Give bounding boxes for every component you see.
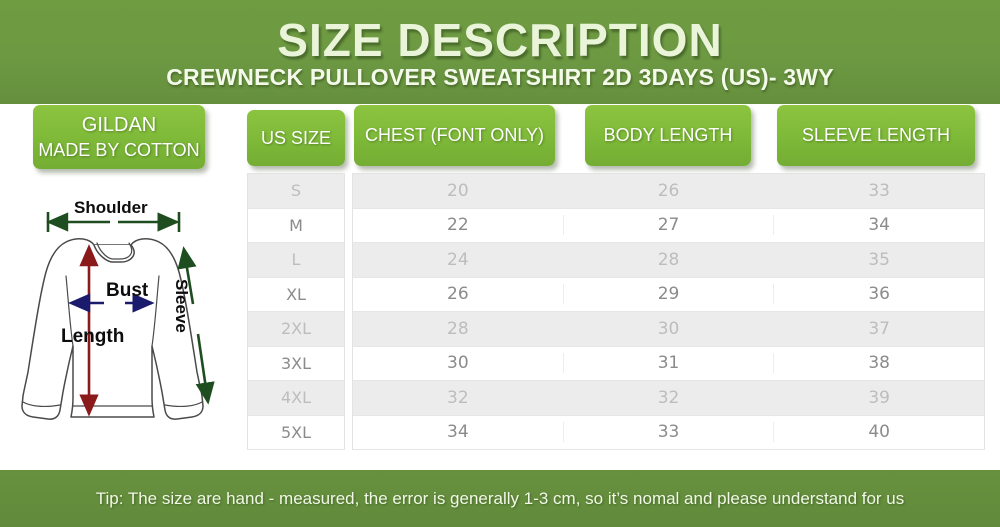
cell-body-length: 29 (563, 284, 774, 304)
size-column: SMLXL2XL3XL4XL5XL (247, 173, 345, 450)
cell-us-size: XL (248, 285, 344, 304)
table-row: 323239 (353, 381, 984, 416)
measurements-columns: 2026332227342428352629362830373031383232… (352, 173, 985, 450)
cell-chest: 26 (353, 284, 563, 304)
cell-sleeve-length: 39 (773, 388, 984, 408)
cell-sleeve-length: 33 (773, 181, 984, 201)
table-row: 222734 (353, 209, 984, 244)
size-table: SMLXL2XL3XL4XL5XL 2026332227342428352629… (0, 168, 1000, 450)
table-row: 343340 (353, 416, 984, 451)
table-row: 242835 (353, 243, 984, 278)
cell-sleeve-length: 36 (773, 284, 984, 304)
cell-chest: 30 (353, 353, 563, 373)
cell-us-size: 4XL (248, 388, 344, 407)
cell-body-length: 28 (563, 250, 774, 270)
cell-chest: 22 (353, 215, 563, 235)
table-row: 283037 (353, 312, 984, 347)
column-header-chest: CHEST (FONT ONLY) (354, 105, 555, 166)
table-row: 262936 (353, 278, 984, 313)
cell-sleeve-length: 35 (773, 250, 984, 270)
cell-chest: 28 (353, 319, 563, 339)
cell-us-size: S (248, 181, 344, 200)
cell-body-length: 32 (563, 388, 774, 408)
cell-chest: 34 (353, 422, 563, 442)
table-row: XL (248, 278, 344, 313)
brand-tagline: MADE BY COTTON (38, 138, 199, 162)
cell-body-length: 27 (563, 215, 774, 235)
size-chart-page: SIZE DESCRIPTION CREWNECK PULLOVER SWEAT… (0, 0, 1000, 527)
cell-us-size: M (248, 216, 344, 235)
cell-body-length: 33 (563, 422, 774, 442)
cell-sleeve-length: 40 (773, 422, 984, 442)
cell-chest: 32 (353, 388, 563, 408)
page-title: SIZE DESCRIPTION (0, 13, 1000, 67)
table-row: 4XL (248, 381, 344, 416)
brand-name: GILDAN (82, 113, 156, 138)
cell-body-length: 31 (563, 353, 774, 373)
table-row: S (248, 174, 344, 209)
column-header-sleeve-length: SLEEVE LENGTH (777, 105, 975, 166)
cell-chest: 20 (353, 181, 563, 201)
cell-body-length: 30 (563, 319, 774, 339)
column-header-body-length: BODY LENGTH (585, 105, 751, 166)
table-row: 202633 (353, 174, 984, 209)
table-row: L (248, 243, 344, 278)
cell-sleeve-length: 34 (773, 215, 984, 235)
page-subtitle: CREWNECK PULLOVER SWEATSHIRT 2D 3DAYS (U… (0, 64, 1000, 91)
table-row: 2XL (248, 312, 344, 347)
cell-us-size: 5XL (248, 423, 344, 442)
cell-us-size: 3XL (248, 354, 344, 373)
cell-sleeve-length: 38 (773, 353, 984, 373)
brand-pill: GILDAN MADE BY COTTON (33, 105, 205, 169)
cell-sleeve-length: 37 (773, 319, 984, 339)
cell-us-size: 2XL (248, 319, 344, 338)
table-row: 3XL (248, 347, 344, 382)
footer-band: Tip: The size are hand - measured, the e… (0, 470, 1000, 527)
table-row: M (248, 209, 344, 244)
cell-us-size: L (248, 250, 344, 269)
table-row: 303138 (353, 347, 984, 382)
table-row: 5XL (248, 416, 344, 451)
cell-body-length: 26 (563, 181, 774, 201)
tip-text: Tip: The size are hand - measured, the e… (96, 489, 905, 509)
column-header-us-size: US SIZE (247, 110, 345, 166)
cell-chest: 24 (353, 250, 563, 270)
